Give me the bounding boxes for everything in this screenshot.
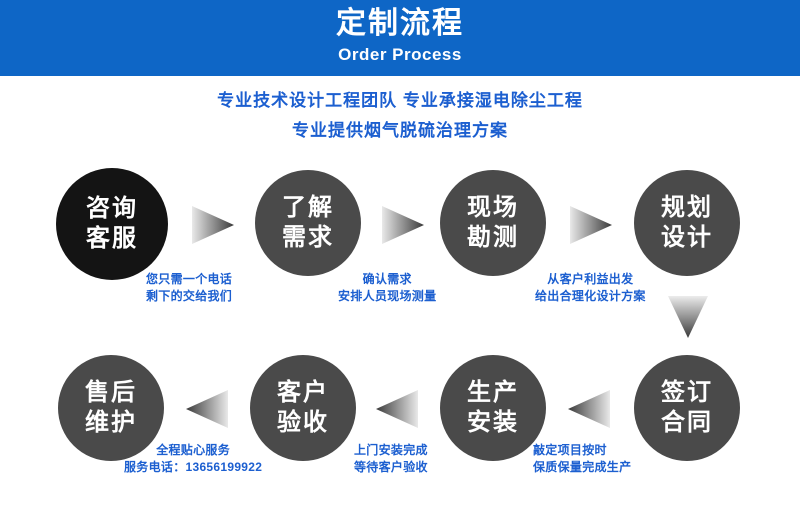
step-caption-production-install-line1: 上门安装完成 <box>354 442 428 459</box>
arrow-right-1-icon <box>192 204 236 246</box>
step-node-planning-design-line1: 规划 <box>661 193 713 223</box>
step-node-production-install[interactable]: 生产 安装 <box>440 355 546 461</box>
step-caption-consult: 您只需一个电话 剩下的交给我们 <box>146 271 232 305</box>
arrow-left-3-icon <box>186 388 230 430</box>
step-node-sign-contract[interactable]: 签订 合同 <box>634 355 740 461</box>
step-node-consult-line2: 客服 <box>86 224 138 254</box>
step-node-site-survey[interactable]: 现场 勘测 <box>440 170 546 276</box>
step-node-consult[interactable]: 咨询 客服 <box>56 168 168 280</box>
order-process-infographic: 定制流程 Order Process 专业技术设计工程团队 专业承接湿电除尘工程… <box>0 0 800 509</box>
tagline-line-2: 专业提供烟气脱硫治理方案 <box>0 116 800 146</box>
arrow-right-2-icon <box>382 204 426 246</box>
step-node-customer-acceptance-line1: 客户 <box>277 378 329 408</box>
tagline-block: 专业技术设计工程团队 专业承接湿电除尘工程 专业提供烟气脱硫治理方案 <box>0 86 800 146</box>
arrow-right-3-icon <box>570 204 614 246</box>
step-caption-production-install-line2: 等待客户验收 <box>354 459 428 476</box>
step-caption-site-survey-line1: 从客户利益出发 <box>535 271 646 288</box>
arrow-left-2-icon <box>376 388 420 430</box>
step-node-site-survey-line1: 现场 <box>467 193 519 223</box>
page-title: 定制流程 <box>0 0 800 42</box>
step-node-customer-acceptance-line2: 验收 <box>277 408 329 438</box>
arrow-left-1-icon <box>568 388 612 430</box>
step-node-production-install-line1: 生产 <box>467 378 519 408</box>
step-node-planning-design[interactable]: 规划 设计 <box>634 170 740 276</box>
step-node-after-sales-line2: 维护 <box>85 408 137 438</box>
step-node-sign-contract-line2: 合同 <box>661 408 713 438</box>
step-caption-site-survey-line2: 给出合理化设计方案 <box>535 288 646 305</box>
step-node-understand-needs-line2: 需求 <box>282 223 334 253</box>
header-banner: 定制流程 Order Process <box>0 0 800 76</box>
step-caption-sign-contract-line2: 保质保量完成生产 <box>533 459 631 476</box>
step-node-customer-acceptance[interactable]: 客户 验收 <box>250 355 356 461</box>
step-node-production-install-line2: 安装 <box>467 408 519 438</box>
page-subtitle: Order Process <box>0 42 800 66</box>
step-node-understand-needs-line1: 了解 <box>282 193 334 223</box>
step-caption-sign-contract: 敲定项目按时 保质保量完成生产 <box>533 442 631 476</box>
service-phone-text: 服务电话：13656199922 <box>124 459 262 476</box>
step-caption-sign-contract-line1: 敲定项目按时 <box>533 442 631 459</box>
step-node-after-sales-line1: 售后 <box>85 378 137 408</box>
step-node-site-survey-line2: 勘测 <box>467 223 519 253</box>
step-caption-customer-acceptance: 全程贴心服务 服务电话：13656199922 <box>124 442 262 476</box>
step-node-sign-contract-line1: 签订 <box>661 378 713 408</box>
step-caption-understand-needs: 确认需求 安排人员现场测量 <box>338 271 436 305</box>
tagline-line-1: 专业技术设计工程团队 专业承接湿电除尘工程 <box>0 86 800 116</box>
step-node-consult-line1: 咨询 <box>86 194 138 224</box>
step-node-understand-needs[interactable]: 了解 需求 <box>255 170 361 276</box>
step-node-planning-design-line2: 设计 <box>661 223 713 253</box>
step-caption-consult-line1: 您只需一个电话 <box>146 271 232 288</box>
step-caption-site-survey: 从客户利益出发 给出合理化设计方案 <box>535 271 646 305</box>
arrow-down-1-icon <box>666 296 710 340</box>
step-caption-understand-needs-line1: 确认需求 <box>338 271 436 288</box>
step-caption-consult-line2: 剩下的交给我们 <box>146 288 232 305</box>
step-caption-understand-needs-line2: 安排人员现场测量 <box>338 288 436 305</box>
step-caption-production-install: 上门安装完成 等待客户验收 <box>354 442 428 476</box>
step-caption-customer-acceptance-line1: 全程贴心服务 <box>124 442 262 459</box>
